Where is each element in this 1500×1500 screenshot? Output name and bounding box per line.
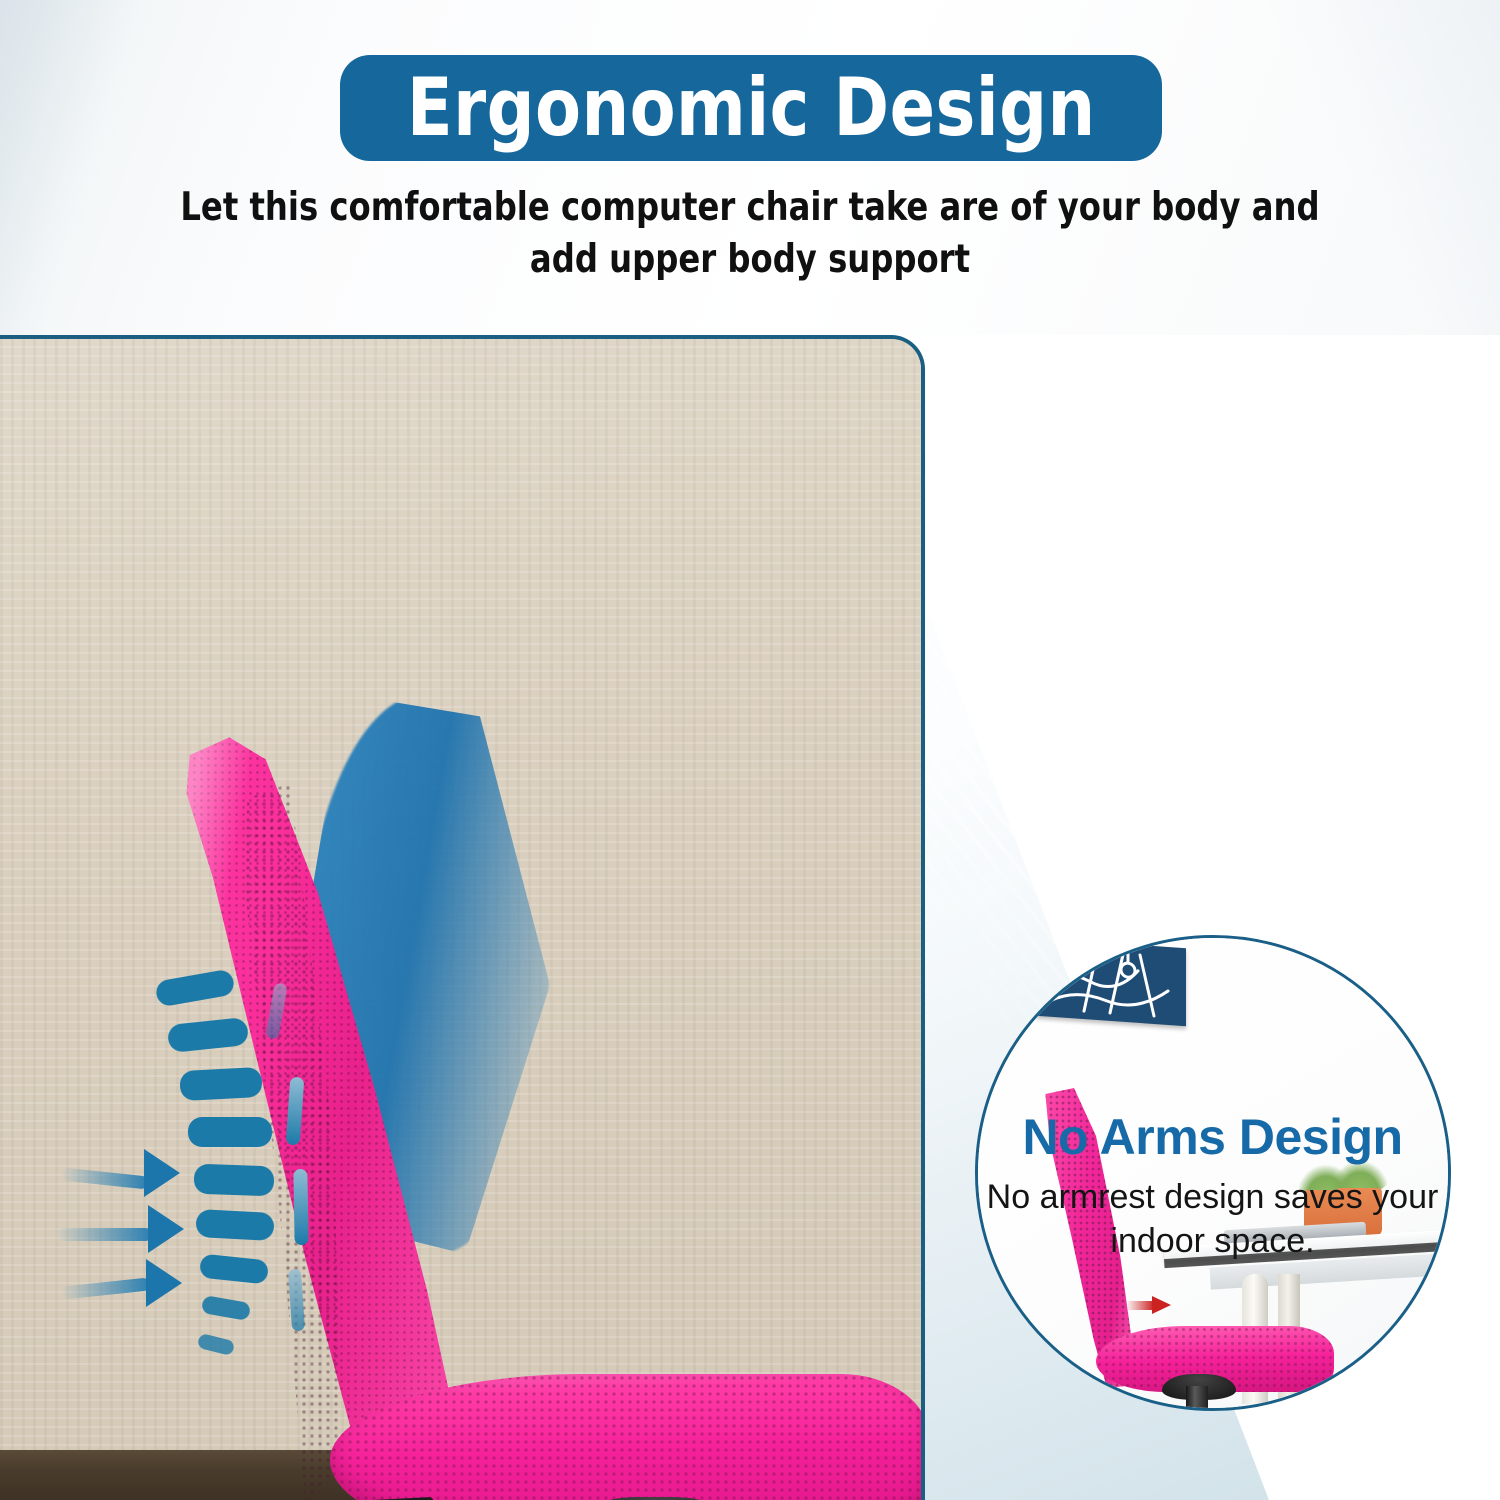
posture-guide-dash	[288, 1269, 305, 1332]
spine-support-diagram	[90, 969, 470, 1469]
vertebra-segment	[197, 1333, 236, 1356]
vertebra-segment	[154, 968, 235, 1007]
vertebra-segment	[179, 1067, 262, 1101]
arrow-shaft	[1128, 1301, 1154, 1310]
inset-chair-cylinder	[1186, 1386, 1208, 1411]
vertebra-segment	[167, 1017, 249, 1053]
wall-art-icon	[1036, 938, 1186, 1026]
product-infographic-poster: Ergonomic Design Let this comfortable co…	[0, 0, 1500, 1500]
vertebra-segment	[201, 1295, 251, 1321]
vertebra-segment	[195, 1209, 274, 1241]
page-title: Ergonomic Design	[407, 68, 1096, 148]
vertebra-segment	[199, 1254, 269, 1285]
feature-description: No armrest design saves your indoor spac…	[925, 1175, 1500, 1263]
header-section: Ergonomic Design Let this comfortable co…	[0, 0, 1500, 335]
space-saving-arrow-icon	[1128, 1296, 1174, 1314]
vertebra-segment	[188, 1117, 272, 1147]
content-section: 禾	[0, 335, 1500, 1500]
arrow-head	[1152, 1296, 1171, 1314]
title-badge: Ergonomic Design	[340, 55, 1162, 161]
posture-guide-dash	[286, 1077, 305, 1146]
feature-heading: No Arms Design	[925, 1110, 1500, 1165]
vertebra-segment	[194, 1164, 275, 1197]
posture-guide-dash	[293, 1169, 308, 1245]
posture-guide-dash	[265, 982, 288, 1039]
header-subtitle: Let this comfortable computer chair take…	[161, 182, 1339, 286]
feature-text-block: No Arms Design No armrest design saves y…	[925, 1110, 1500, 1263]
main-product-photo: 禾	[0, 335, 925, 1500]
